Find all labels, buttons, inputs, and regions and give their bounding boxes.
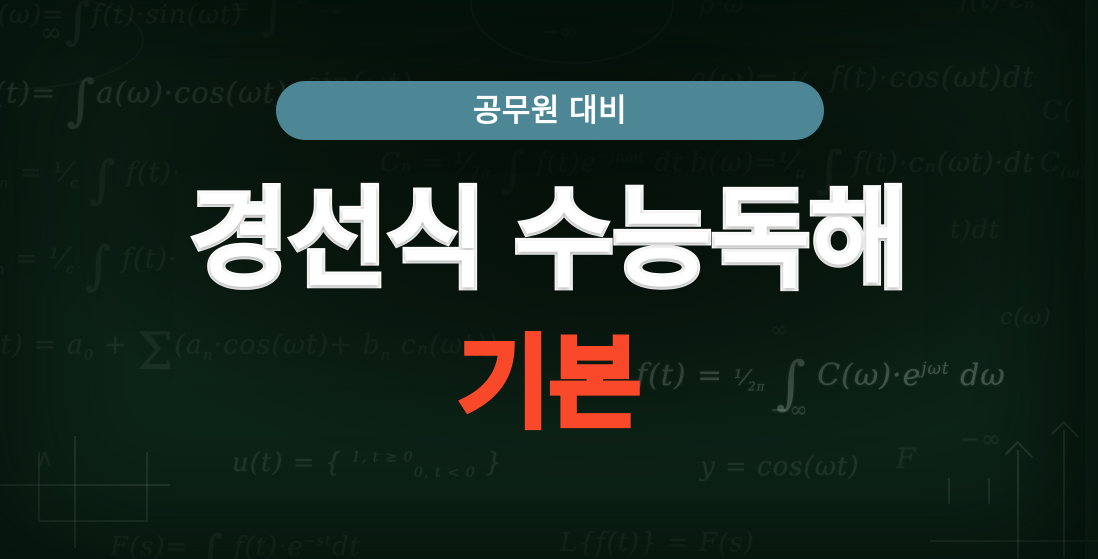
promo-banner: b(ω)=∫f(t)·sin(ωt) = ∫ ∞ −∞ ω)·sin(ωt)dω… xyxy=(0,0,1098,559)
course-category-badge: 공무원 대비 xyxy=(276,81,824,140)
page-title: 경선식 수능독해 xyxy=(0,182,1098,299)
badge-label: 공무원 대비 xyxy=(473,95,627,126)
course-level-subtitle: 기본 xyxy=(0,330,1098,438)
